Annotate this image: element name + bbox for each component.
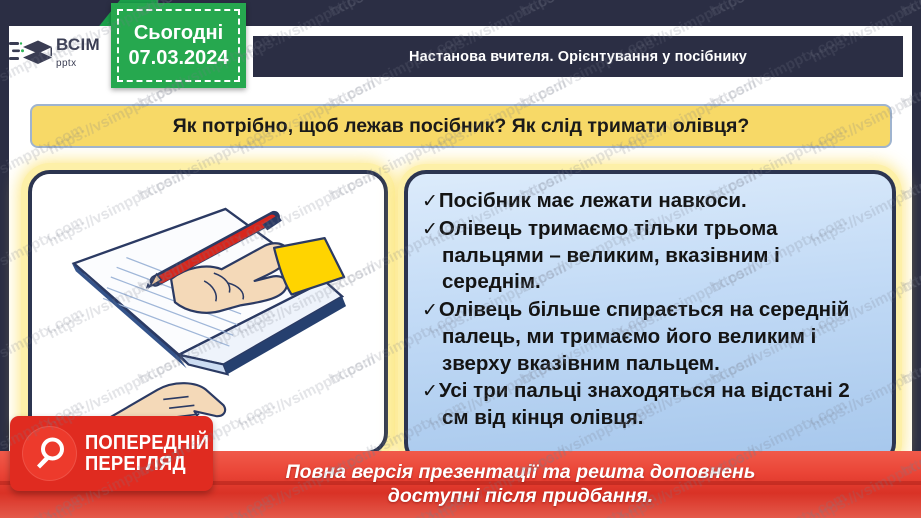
date-badge: Сьогодні 07.03.2024: [111, 3, 246, 88]
bullet-text: Олівець більше спирається на середній па…: [439, 298, 849, 375]
illustration-card: [28, 170, 388, 455]
logo-title: ВСІМ: [56, 35, 100, 54]
check-icon: ✓: [422, 381, 438, 402]
preview-line-1: ПОПЕРЕДНІЙ: [85, 433, 209, 453]
question-banner: Як потрібно, щоб лежав посібник? Як слід…: [30, 104, 892, 148]
preview-badge-text: ПОПЕРЕДНІЙ ПЕРЕГЛЯД: [85, 433, 220, 474]
hand-writing-in-notebook-illustration: [32, 174, 384, 451]
header-title: Настанова вчителя. Орієнтування у посібн…: [409, 49, 747, 65]
preview-line-2: ПЕРЕГЛЯД: [85, 454, 209, 474]
bullet-text: Посібник має лежати навкоси.: [439, 189, 747, 212]
slide-header-bar: Настанова вчителя. Орієнтування у посібн…: [253, 36, 903, 77]
date-badge-label: Сьогодні: [134, 21, 223, 45]
list-item: ✓Усі три пальці знаходяться на відстані …: [422, 378, 876, 432]
purchase-notice-text: Повна версія презентації та решта доповн…: [286, 461, 756, 509]
check-icon: ✓: [422, 300, 438, 321]
ribbon-line-2: доступні після придбання.: [286, 485, 756, 509]
list-item: ✓Олівець тримаємо тільки трьома пальцями…: [422, 216, 876, 296]
magnifier-icon: [22, 426, 77, 481]
check-icon: ✓: [422, 219, 438, 240]
question-banner-text: Як потрібно, щоб лежав посібник? Як слід…: [173, 115, 750, 138]
date-badge-value: 07.03.2024: [128, 46, 228, 70]
ribbon-line-1: Повна версія презентації та решта доповн…: [286, 461, 756, 485]
bullet-list: ✓Посібник має лежати навкоси. ✓Олівець т…: [422, 188, 876, 432]
brand-logo[interactable]: ВСІМ pptx: [9, 26, 116, 80]
check-icon: ✓: [422, 191, 438, 212]
bullet-text: Олівець тримаємо тільки трьома пальцями …: [439, 217, 780, 294]
slide-root: ВСІМ pptx Настанова вчителя. Орієнтуванн…: [0, 0, 921, 518]
content-card: ✓Посібник має лежати навкоси. ✓Олівець т…: [404, 170, 896, 465]
bullet-text: Усі три пальці знаходяться на відстані 2…: [439, 379, 850, 429]
logo-subtitle: pptx: [56, 58, 77, 69]
list-item: ✓Олівець більше спирається на середній п…: [422, 297, 876, 377]
preview-badge[interactable]: ПОПЕРЕДНІЙ ПЕРЕГЛЯД: [10, 416, 213, 491]
list-item: ✓Посібник має лежати навкоси.: [422, 188, 876, 215]
graduation-cap-icon: [9, 38, 53, 68]
